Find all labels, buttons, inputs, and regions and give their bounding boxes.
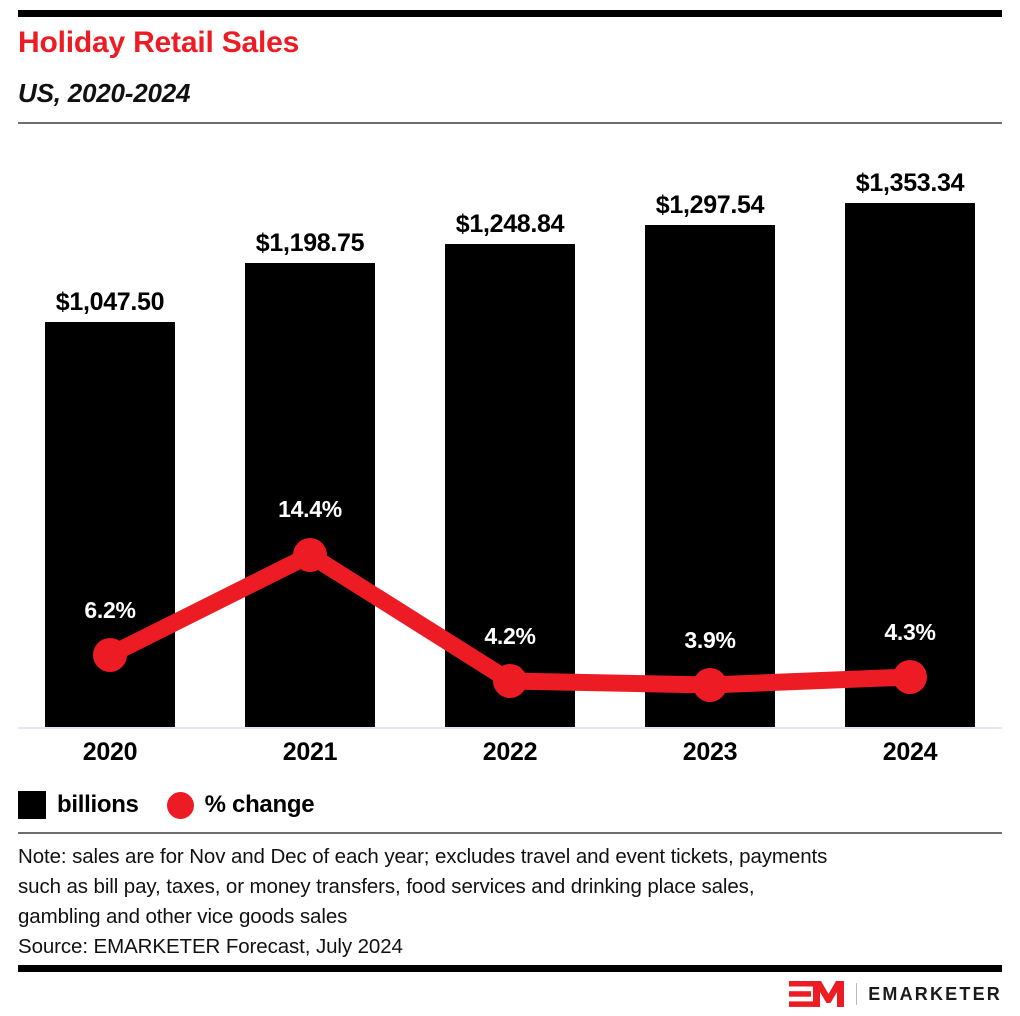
brand-divider bbox=[856, 983, 857, 1005]
page-title: Holiday Retail Sales bbox=[18, 28, 299, 58]
bar-value-label-2024: $1,353.34 bbox=[825, 169, 995, 198]
legend-label-pct-change: % change bbox=[205, 791, 315, 819]
pct-label-2020: 6.2% bbox=[25, 597, 195, 624]
legend-item-billions: billions bbox=[18, 791, 139, 819]
x-axis-baseline bbox=[18, 727, 1002, 729]
infographic-page: Holiday Retail Sales US, 2020-2024 $1,04… bbox=[0, 0, 1020, 1016]
bar-value-label-2022: $1,248.84 bbox=[425, 210, 595, 239]
header-divider bbox=[18, 122, 1002, 124]
bar-2020 bbox=[45, 322, 175, 727]
pct-label-2022: 4.2% bbox=[425, 623, 595, 650]
source-line: Source: EMARKETER Forecast, July 2024 bbox=[18, 932, 403, 962]
bar-value-label-2023: $1,297.54 bbox=[625, 191, 795, 220]
pct-label-2024: 4.3% bbox=[825, 619, 995, 646]
note-divider bbox=[18, 832, 1002, 834]
x-tick-2020: 2020 bbox=[25, 738, 195, 767]
pct-label-2021: 14.4% bbox=[225, 496, 395, 523]
legend-square-icon bbox=[18, 791, 46, 819]
x-tick-2021: 2021 bbox=[225, 738, 395, 767]
note-line-3: gambling and other vice goods sales bbox=[18, 902, 978, 932]
bar-value-label-2021: $1,198.75 bbox=[225, 229, 395, 258]
note-line-1: Note: sales are for Nov and Dec of each … bbox=[18, 842, 978, 872]
bar-value-label-2020: $1,047.50 bbox=[25, 288, 195, 317]
bottom-rule bbox=[18, 965, 1002, 972]
pct-label-2023: 3.9% bbox=[625, 627, 795, 654]
note-line-2: such as bill pay, taxes, or money transf… bbox=[18, 872, 978, 902]
legend-circle-icon bbox=[167, 792, 194, 819]
bar-2022 bbox=[445, 244, 575, 727]
x-tick-2024: 2024 bbox=[825, 738, 995, 767]
x-tick-2022: 2022 bbox=[425, 738, 595, 767]
legend-label-billions: billions bbox=[57, 791, 139, 819]
x-axis-labels: 2020 2021 2022 2023 2024 bbox=[0, 730, 1020, 770]
page-subtitle: US, 2020-2024 bbox=[18, 80, 190, 106]
chart-legend: billions % change bbox=[18, 789, 314, 821]
x-tick-2023: 2023 bbox=[625, 738, 795, 767]
chart-plot-area: $1,047.50 $1,198.75 $1,248.84 $1,297.54 … bbox=[0, 140, 1020, 730]
em-logo-icon bbox=[789, 981, 845, 1007]
bar-2021 bbox=[245, 263, 375, 727]
legend-item-pct-change: % change bbox=[167, 791, 315, 819]
top-rule bbox=[18, 10, 1002, 17]
bar-2024 bbox=[845, 203, 975, 727]
brand-wordmark: EMARKETER bbox=[868, 984, 1002, 1005]
note-block: Note: sales are for Nov and Dec of each … bbox=[18, 842, 978, 932]
footer-brand: EMARKETER bbox=[789, 980, 1002, 1008]
